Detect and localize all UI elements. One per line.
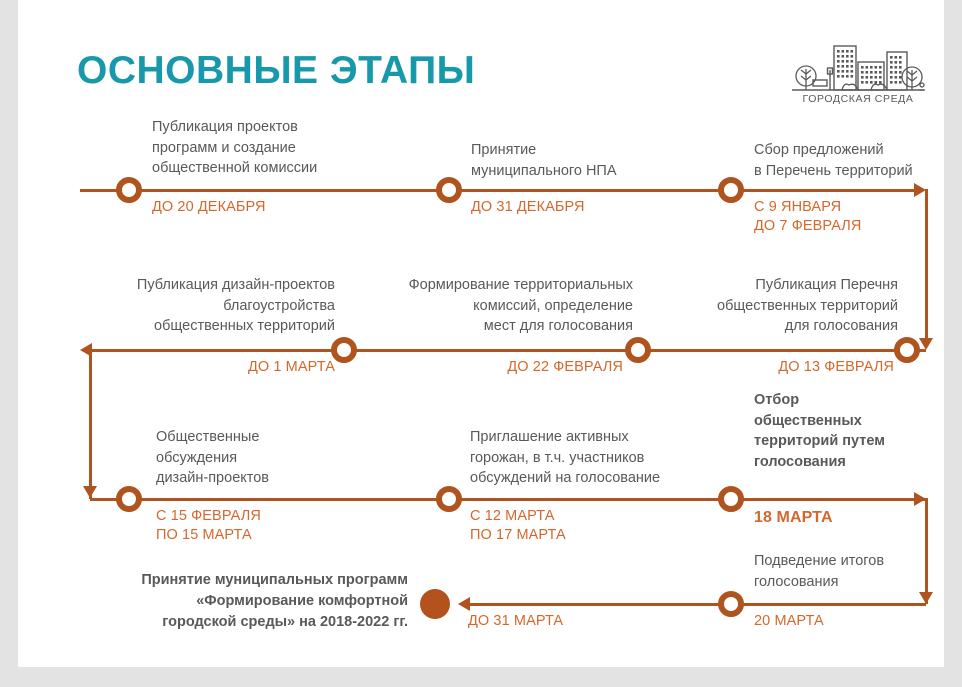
timeline-node-3[interactable] xyxy=(718,177,744,203)
step-10-date: 20 МАРТА xyxy=(754,612,954,631)
final-date: ДО 31 МАРТА xyxy=(468,612,688,631)
slide-canvas: ОСНОВНЫЕ ЭТАПЫ xyxy=(18,0,944,667)
connector-row2-to-row3 xyxy=(89,349,92,499)
timeline-line-row3 xyxy=(90,498,926,501)
timeline-node-final[interactable] xyxy=(420,589,450,619)
step-3-body: Сбор предложений в Перечень территорий xyxy=(754,140,962,181)
step-1-body: Публикация проектов программ и создание … xyxy=(152,117,392,179)
timeline-node-2[interactable] xyxy=(436,177,462,203)
step-8-body: Приглашение активных горожан, в т.ч. уча… xyxy=(470,427,718,489)
step-7-body: Общественные обсуждения дизайн-проектов xyxy=(156,427,366,489)
step-1-date: ДО 20 ДЕКАБРЯ xyxy=(152,198,392,217)
timeline-node-6[interactable] xyxy=(894,337,920,363)
timeline-node-7[interactable] xyxy=(116,486,142,512)
timeline-line-row2 xyxy=(90,349,926,352)
page-title: ОСНОВНЫЕ ЭТАПЫ xyxy=(77,51,475,90)
step-9-date: 18 МАРТА xyxy=(754,507,929,528)
timeline-line-row4 xyxy=(468,603,926,606)
step-7-date: С 15 ФЕВРАЛЯ ПО 15 МАРТА xyxy=(156,507,366,545)
timeline-node-1[interactable] xyxy=(116,177,142,203)
step-3-date: С 9 ЯНВАРЯ ДО 7 ФЕВРАЛЯ xyxy=(754,198,962,236)
timeline-node-10[interactable] xyxy=(718,591,744,617)
timeline-node-9[interactable] xyxy=(718,486,744,512)
step-6-date: ДО 13 ФЕВРАЛЯ xyxy=(658,358,894,377)
arrow-down-row3-entry xyxy=(83,486,97,498)
step-8-date: С 12 МАРТА ПО 17 МАРТА xyxy=(470,507,718,545)
step-5-body: Формирование территориальных комиссий, о… xyxy=(348,275,633,337)
step-5-date: ДО 22 ФЕВРАЛЯ xyxy=(348,358,623,377)
timeline-node-8[interactable] xyxy=(436,486,462,512)
step-2-body: Принятие муниципального НПА xyxy=(471,140,721,181)
step-6-body: Публикация Перечня общественных территор… xyxy=(658,275,898,337)
connector-row1-to-row2 xyxy=(925,189,928,339)
step-4-date: ДО 1 МАРТА xyxy=(73,358,335,377)
final-note: Принятие муниципальных программ «Формиро… xyxy=(83,570,408,633)
step-10-body: Подведение итогов голосования xyxy=(754,551,954,592)
logo-caption: ГОРОДСКАЯ СРЕДА xyxy=(788,93,928,105)
step-4-body: Публикация дизайн-проектов благоустройст… xyxy=(73,275,335,337)
step-9-body: Отбор общественных территорий путем голо… xyxy=(754,390,929,472)
timeline-node-5[interactable] xyxy=(625,337,651,363)
timeline-line-row1 xyxy=(80,189,916,192)
arrow-left-row4-end xyxy=(458,597,470,611)
step-2-date: ДО 31 ДЕКАБРЯ xyxy=(471,198,721,217)
